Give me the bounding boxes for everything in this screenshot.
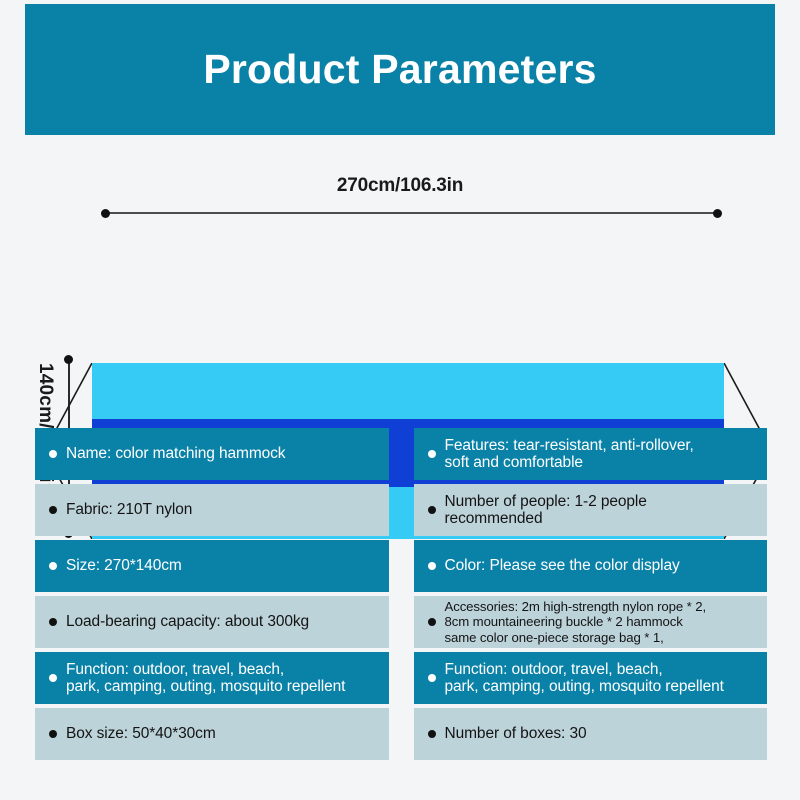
bullet-icon	[428, 450, 436, 458]
bullet-icon	[49, 506, 57, 514]
spec-row-text: Load-bearing capacity: about 300kg	[66, 613, 379, 631]
width-dimension-label: 270cm/106.3in	[0, 175, 800, 197]
spec-row-text: Box size: 50*40*30cm	[66, 725, 379, 743]
spec-row-text: Number of boxes: 30	[445, 725, 758, 743]
page-title: Product Parameters	[203, 46, 596, 93]
spec-row: Load-bearing capacity: about 300kg	[35, 596, 389, 648]
spec-row: Accessories: 2m high-strength nylon rope…	[414, 596, 768, 648]
width-dimension-endpoint-left	[101, 209, 110, 218]
spec-row: Color: Please see the color display	[414, 540, 768, 592]
product-dimension-diagram: 270cm/106.3in 140cm/55.12in	[0, 135, 800, 420]
bullet-icon	[428, 674, 436, 682]
bullet-icon	[49, 450, 57, 458]
bullet-icon	[49, 618, 57, 626]
spec-row-text: Fabric: 210T nylon	[66, 501, 379, 519]
spec-column-left: Name: color matching hammockFabric: 210T…	[35, 428, 389, 773]
spec-row-text: Size: 270*140cm	[66, 557, 379, 575]
spec-row-text: Function: outdoor, travel, beach, park, …	[66, 661, 379, 696]
bullet-icon	[428, 618, 436, 626]
spec-table: Name: color matching hammockFabric: 210T…	[0, 428, 800, 773]
spec-row-text: Accessories: 2m high-strength nylon rope…	[445, 599, 758, 646]
spec-row: Function: outdoor, travel, beach, park, …	[414, 652, 768, 704]
bullet-icon	[49, 730, 57, 738]
spec-row: Function: outdoor, travel, beach, park, …	[35, 652, 389, 704]
bullet-icon	[428, 506, 436, 514]
bullet-icon	[49, 562, 57, 570]
spec-row-text: Features: tear-resistant, anti-rollover,…	[445, 437, 758, 472]
spec-row: Features: tear-resistant, anti-rollover,…	[414, 428, 768, 480]
spec-row: Number of boxes: 30	[414, 708, 768, 760]
bullet-icon	[428, 562, 436, 570]
spec-row: Number of people: 1-2 people recommended	[414, 484, 768, 536]
header-banner: Product Parameters	[25, 4, 775, 135]
bullet-icon	[428, 730, 436, 738]
spec-row-text: Number of people: 1-2 people recommended	[445, 493, 758, 528]
bullet-icon	[49, 674, 57, 682]
spec-column-right: Features: tear-resistant, anti-rollover,…	[414, 428, 768, 773]
spec-row: Name: color matching hammock	[35, 428, 389, 480]
fabric-stripe-top	[92, 363, 724, 419]
spec-row-text: Color: Please see the color display	[445, 557, 758, 575]
spec-row-text: Function: outdoor, travel, beach, park, …	[445, 661, 758, 696]
spec-row: Fabric: 210T nylon	[35, 484, 389, 536]
width-dimension-endpoint-right	[713, 209, 722, 218]
spec-row: Box size: 50*40*30cm	[35, 708, 389, 760]
spec-row-text: Name: color matching hammock	[66, 445, 379, 463]
spec-row: Size: 270*140cm	[35, 540, 389, 592]
width-dimension-line	[107, 212, 718, 214]
